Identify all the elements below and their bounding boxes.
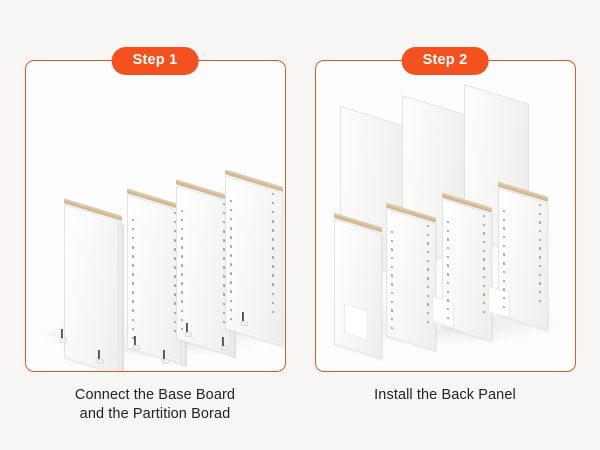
step-card-2: Step 2	[315, 60, 576, 372]
cam-bolt-2	[98, 350, 101, 364]
dowel-holes-4-right	[272, 193, 274, 313]
step-column-1: Step 1	[25, 60, 286, 424]
cam-bolt-5	[186, 323, 189, 337]
dowel-holes-2-left	[132, 219, 134, 339]
step-caption-2: Install the Back Panel	[374, 386, 516, 405]
illustration-step-1	[26, 61, 285, 371]
steps-container: Step 1	[0, 0, 600, 450]
dowel-holes-3-right	[539, 204, 541, 302]
cam-bolt-6	[222, 337, 225, 351]
instruction-page: Step 1	[0, 0, 600, 450]
illustration-step-2	[316, 61, 575, 371]
dowel-holes-3-right	[223, 203, 225, 323]
dowel-holes-2-right	[483, 215, 485, 313]
cam-bolt-3	[134, 336, 137, 350]
dowel-holes-3-left	[503, 210, 505, 308]
step-caption-1: Connect the Base Board and the Partition…	[75, 386, 235, 424]
partition-board-4	[225, 175, 283, 347]
side-panel-left	[334, 219, 382, 360]
dowel-holes-1-right	[427, 225, 429, 323]
dowel-holes-2-left	[447, 221, 449, 319]
step-column-2: Step 2	[315, 60, 576, 405]
dowel-holes-2-right	[174, 212, 176, 332]
dowel-holes-3-left	[181, 210, 183, 330]
cam-bolt-4	[163, 350, 166, 364]
cam-bolt-7	[242, 312, 245, 326]
step-card-1: Step 1	[25, 60, 286, 372]
partition-board-1	[64, 204, 122, 371]
board-side-edge-1	[118, 223, 124, 371]
cam-bolt-1	[61, 329, 64, 343]
dowel-holes-4-left	[230, 200, 232, 320]
dowel-holes-1-left	[391, 231, 393, 329]
